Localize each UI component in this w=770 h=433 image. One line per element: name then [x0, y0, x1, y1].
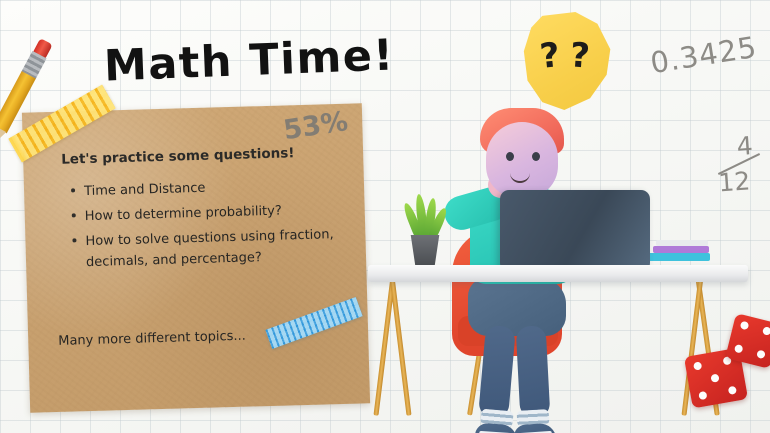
potted-plant-icon	[404, 188, 446, 238]
question-mark-glyph: ?	[569, 35, 591, 76]
card-lead-text: Let's practice some questions!	[61, 144, 339, 168]
character-head	[486, 122, 558, 198]
character-thighs	[468, 278, 566, 336]
dice-pip	[740, 321, 750, 331]
dice-pip	[698, 391, 707, 400]
dice-pip	[734, 344, 744, 354]
dice-pip	[756, 349, 766, 359]
card-footnote: Many more different topics...	[58, 329, 246, 349]
kraft-note-card: 53% Let's practice some questions! Time …	[22, 103, 370, 412]
list-item: How to determine probability?	[85, 199, 341, 227]
topics-list: Time and Distance How to determine proba…	[68, 174, 342, 274]
character-eye	[532, 152, 540, 161]
character-shin	[516, 325, 551, 418]
percent-annotation: 53%	[282, 106, 351, 146]
book-stack-icon	[656, 240, 708, 246]
dice-pip	[762, 326, 770, 336]
computer-monitor-icon	[500, 190, 650, 272]
plant-pot	[408, 235, 442, 267]
character-eye	[506, 152, 514, 161]
decimal-annotation: 0.3425	[648, 30, 759, 80]
book-stack-icon	[653, 246, 709, 253]
dice-pip	[728, 386, 737, 395]
list-item: How to solve questions using fraction, d…	[85, 224, 342, 273]
question-mark-glyph: ?	[538, 35, 562, 77]
list-item: Time and Distance	[84, 174, 340, 202]
book-stack-icon	[648, 253, 710, 261]
page-title: Math Time!	[103, 30, 395, 91]
card-surface: 53% Let's practice some questions! Time …	[22, 103, 370, 412]
dice-pip	[710, 374, 719, 383]
desk-leg	[389, 276, 411, 416]
card-content: Let's practice some questions! Time and …	[61, 144, 342, 278]
dice-pip	[693, 361, 702, 370]
desk-icon	[368, 265, 748, 282]
slide-canvas: Math Time! 53% Let's practice some quest…	[0, 0, 770, 433]
